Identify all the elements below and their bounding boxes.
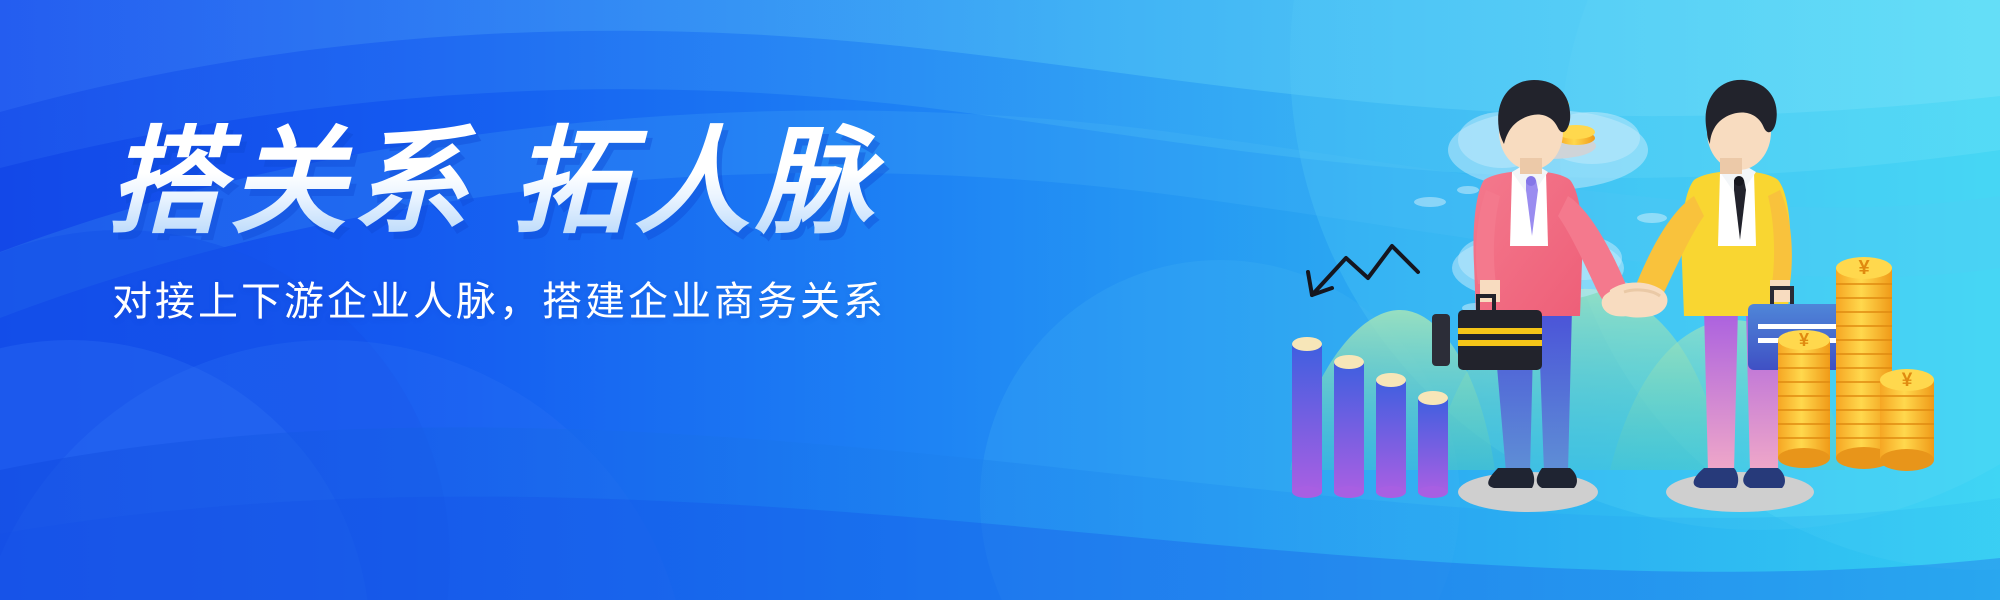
banner-text-block: 搭关系 拓人脉 对接上下游企业人脉，搭建企业商务关系 [108,118,1008,326]
ground-shadow-right [1666,472,1814,512]
page-title: 搭关系 拓人脉 [108,118,1008,248]
business-handshake-illustration: ¥ ¥ [1280,40,1940,560]
banner-subtitle: 对接上下游企业人脉，搭建企业商务关系 [112,278,1008,326]
svg-text:¥: ¥ [1858,257,1870,279]
svg-text:¥: ¥ [1799,330,1809,350]
svg-text:¥: ¥ [1902,370,1913,391]
coin-stacks: ¥ ¥ [1778,257,1934,471]
promo-banner: 搭关系 拓人脉 对接上下游企业人脉，搭建企业商务关系 [0,0,2000,600]
growth-arrow [1308,246,1418,295]
